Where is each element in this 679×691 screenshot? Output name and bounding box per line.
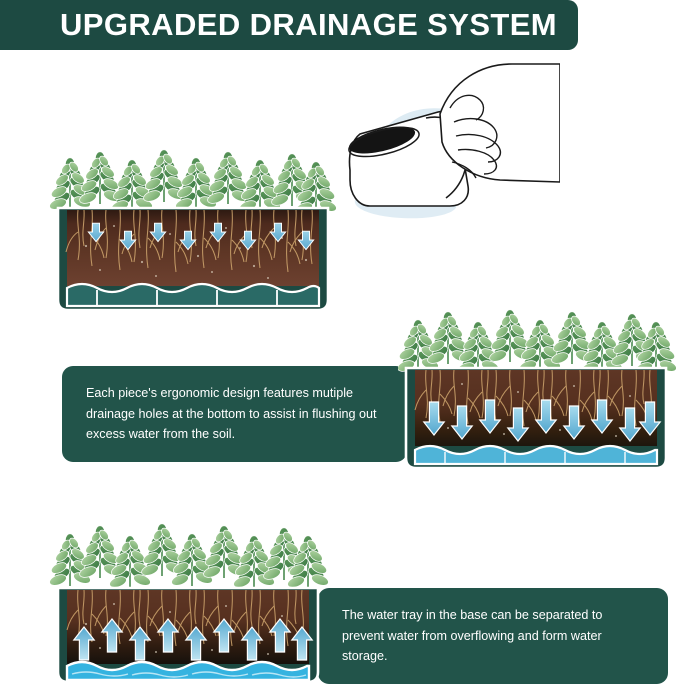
header-banner: UPGRADED DRAINAGE SYSTEM [0,0,578,50]
soil-layer [67,590,309,664]
plant-foliage [48,150,338,216]
page-title: UPGRADED DRAINAGE SYSTEM [0,7,557,43]
soil-layer [66,210,319,286]
plant-foliage [48,524,330,590]
plant-foliage [398,310,676,376]
soil-layer [415,370,657,446]
infographic-canvas: UPGRADED DRAINAGE SYSTEM Each piece's er… [0,0,679,691]
planter-cross-section-draining [398,300,676,476]
callout-water-tray-text: The water tray in the base can be separa… [342,608,602,663]
callout-drainage-holes-text: Each piece's ergonomic design features m… [86,386,377,441]
planter-cross-section-watering [48,140,338,318]
planter-cross-section-water-storage [40,512,336,691]
callout-water-tray: The water tray in the base can be separa… [318,588,668,684]
callout-drainage-holes: Each piece's ergonomic design features m… [62,366,407,462]
